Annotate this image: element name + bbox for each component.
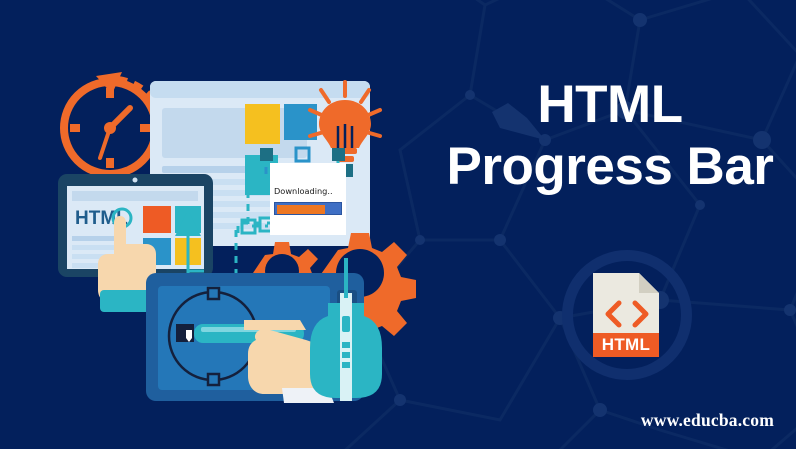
banner-graphic: HTML — [0, 0, 796, 449]
title-line-2: Progress Bar — [430, 140, 790, 194]
developer-illustration: HTML — [38, 58, 438, 403]
site-url: www.educba.com — [641, 410, 774, 431]
progress-bar-track — [274, 202, 342, 215]
progress-bar-fill — [277, 205, 325, 214]
clock-icon — [64, 72, 162, 174]
page-title: HTML Progress Bar — [430, 78, 790, 194]
title-line-1: HTML — [430, 78, 790, 132]
html-file-label-band: HTML — [593, 333, 659, 357]
download-status-label: Downloading.. — [274, 186, 333, 196]
download-popup-window: Downloading.. — [270, 163, 346, 235]
html-file-badge: HTML — [562, 250, 692, 380]
